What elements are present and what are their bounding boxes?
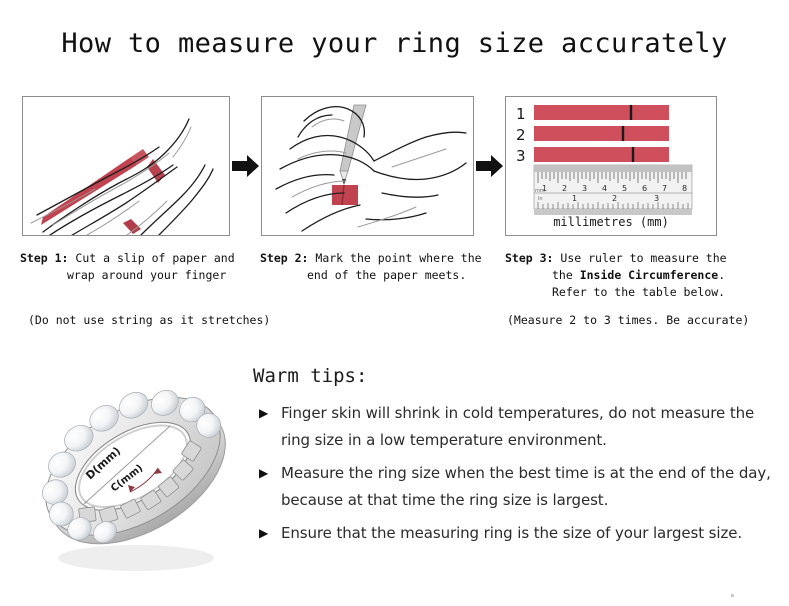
step-2-caption: Step 2: Mark the point where the end of … bbox=[260, 250, 495, 284]
triangle-bullet-icon: ▶ bbox=[259, 400, 268, 427]
svg-text:4: 4 bbox=[602, 184, 607, 193]
step-3-line3: Refer to the table below. bbox=[505, 284, 755, 301]
triangle-bullet-icon: ▶ bbox=[259, 520, 268, 547]
hand-marking-strip-drawing bbox=[262, 97, 473, 235]
step-3-line2-suffix: . bbox=[718, 268, 725, 282]
step-1-line1: Cut a slip of paper and bbox=[75, 251, 234, 265]
step-2-illustration-panel bbox=[261, 96, 474, 236]
svg-text:2: 2 bbox=[562, 184, 567, 193]
warm-tips-heading: Warm tips: bbox=[253, 365, 367, 387]
measured-strip-3 bbox=[534, 147, 669, 162]
step-2-label: Step 2: bbox=[260, 251, 308, 265]
step-1-note: (Do not use string as it stretches) bbox=[28, 313, 270, 327]
step-3-line2-prefix: the bbox=[552, 268, 580, 282]
measured-strip-1 bbox=[534, 105, 669, 120]
warm-tip-item-3: ▶ Ensure that the measuring ring is the … bbox=[253, 520, 773, 547]
warm-tip-text-2: Measure the ring size when the best time… bbox=[281, 464, 771, 509]
step-3-illustration-panel: 1 2 3 bbox=[505, 96, 717, 236]
step-1-label: Step 1: bbox=[20, 251, 68, 265]
ring-diagram: D(mm) C(mm) bbox=[18, 352, 250, 586]
step-2-line2: end of the paper meets. bbox=[260, 267, 495, 284]
corner-speck bbox=[731, 594, 734, 597]
hand-with-paper-strip-drawing bbox=[23, 97, 229, 235]
warm-tip-text-1: Finger skin will shrink in cold temperat… bbox=[281, 404, 754, 449]
svg-text:5: 5 bbox=[622, 184, 627, 193]
measured-strip-2 bbox=[534, 126, 669, 141]
step-3-note: (Measure 2 to 3 times. Be accurate) bbox=[507, 313, 749, 327]
svg-text:6: 6 bbox=[642, 184, 647, 193]
svg-text:7: 7 bbox=[662, 184, 667, 193]
arrow-step2-to-step3-icon bbox=[476, 153, 504, 179]
step-3-line2: the Inside Circumference. bbox=[505, 267, 755, 284]
step-3-caption: Step 3: Use ruler to measure the the Ins… bbox=[505, 250, 755, 301]
step-1-caption: Step 1: Cut a slip of paper and wrap aro… bbox=[20, 250, 255, 284]
svg-text:3: 3 bbox=[516, 147, 526, 165]
svg-text:3: 3 bbox=[654, 194, 659, 203]
svg-text:1: 1 bbox=[572, 194, 577, 203]
svg-text:1: 1 bbox=[516, 105, 526, 123]
step-3-line1: Use ruler to measure the bbox=[560, 251, 726, 265]
step-3-inside-circumference: Inside Circumference bbox=[580, 268, 718, 282]
triangle-bullet-icon: ▶ bbox=[259, 460, 268, 487]
svg-text:8: 8 bbox=[682, 184, 687, 193]
step-1-illustration-panel bbox=[22, 96, 230, 236]
warm-tip-item-2: ▶ Measure the ring size when the best ti… bbox=[253, 460, 773, 514]
svg-text:2: 2 bbox=[612, 194, 617, 203]
svg-text:2: 2 bbox=[516, 126, 526, 144]
step-1-line2: wrap around your finger bbox=[20, 267, 255, 284]
svg-text:3: 3 bbox=[582, 184, 587, 193]
warm-tips-list: ▶ Finger skin will shrink in cold temper… bbox=[253, 400, 773, 553]
page-title: How to measure your ring size accurately bbox=[0, 28, 789, 59]
svg-text:in: in bbox=[538, 196, 543, 202]
warm-tip-item-1: ▶ Finger skin will shrink in cold temper… bbox=[253, 400, 773, 454]
arrow-step1-to-step2-icon bbox=[232, 153, 260, 179]
eternity-ring-illustration: D(mm) C(mm) bbox=[18, 352, 250, 586]
ruler-unit-caption: millimetres (mm) bbox=[506, 215, 716, 229]
step-3-label: Step 3: bbox=[505, 251, 553, 265]
ruler-graphic: 1 2 3 4 5 6 7 8 mm 1 2 3 in bbox=[534, 165, 692, 215]
step-2-line1: Mark the point where the bbox=[315, 251, 481, 265]
warm-tip-text-3: Ensure that the measuring ring is the si… bbox=[281, 524, 742, 542]
